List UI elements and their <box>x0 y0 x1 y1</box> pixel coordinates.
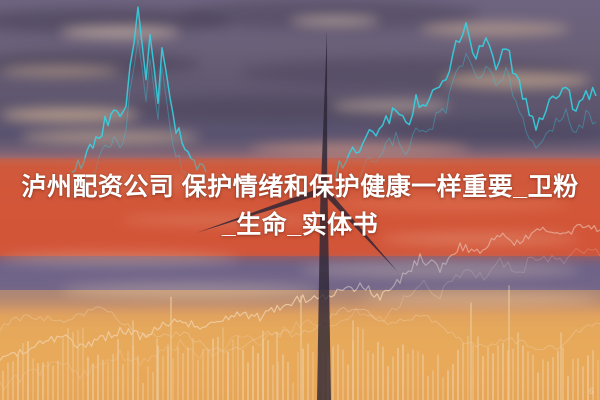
banner-image: 泸州配资公司 保护情绪和保护健康一样重要_卫粉 _生命_实体书 6 <box>0 0 600 400</box>
headline-line-2: _生命_实体书 <box>0 206 600 244</box>
headline-text: 泸州配资公司 保护情绪和保护健康一样重要_卫粉 _生命_实体书 <box>0 168 600 244</box>
watermark-text: 6 <box>589 386 594 396</box>
headline-line-1: 泸州配资公司 保护情绪和保护健康一样重要_卫粉 <box>0 168 600 206</box>
